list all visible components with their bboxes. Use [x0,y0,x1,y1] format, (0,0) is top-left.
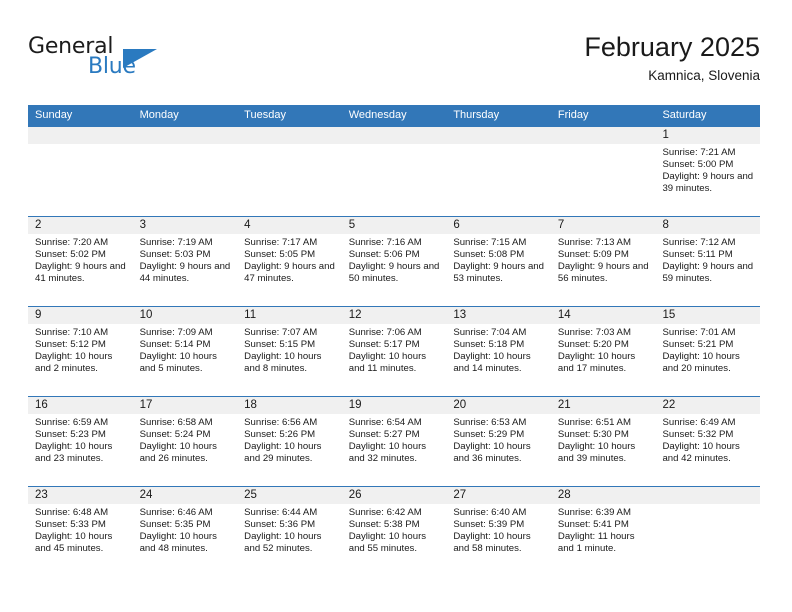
day-details: Sunrise: 6:56 AMSunset: 5:26 PMDaylight:… [237,414,342,465]
sunset-text: Sunset: 5:02 PM [35,249,128,261]
day-number: 19 [342,397,447,414]
day-details [133,144,238,147]
daylight-text: Daylight: 9 hours and 47 minutes. [244,261,337,285]
sunset-text: Sunset: 5:29 PM [453,429,546,441]
sunset-text: Sunset: 5:36 PM [244,519,337,531]
sunset-text: Sunset: 5:38 PM [349,519,442,531]
sunrise-text: Sunrise: 6:59 AM [35,417,128,429]
day-cell[interactable]: 17Sunrise: 6:58 AMSunset: 5:24 PMDayligh… [133,397,238,486]
title-block: February 2025 Kamnica, Slovenia [584,30,760,86]
daylight-text: Daylight: 11 hours and 1 minute. [558,531,651,555]
day-details: Sunrise: 7:21 AMSunset: 5:00 PMDaylight:… [655,144,760,195]
day-cell[interactable]: 11Sunrise: 7:07 AMSunset: 5:15 PMDayligh… [237,307,342,396]
day-number [237,127,342,144]
daylight-text: Daylight: 10 hours and 20 minutes. [662,351,755,375]
daylight-text: Daylight: 9 hours and 44 minutes. [140,261,233,285]
sunset-text: Sunset: 5:05 PM [244,249,337,261]
day-cell[interactable] [133,127,238,216]
calendar-week-row: 16Sunrise: 6:59 AMSunset: 5:23 PMDayligh… [28,396,760,486]
day-number: 7 [551,217,656,234]
sunrise-text: Sunrise: 7:03 AM [558,327,651,339]
daylight-text: Daylight: 9 hours and 39 minutes. [662,171,755,195]
day-number: 24 [133,487,238,504]
daylight-text: Daylight: 10 hours and 29 minutes. [244,441,337,465]
day-number: 21 [551,397,656,414]
sunset-text: Sunset: 5:24 PM [140,429,233,441]
day-number: 23 [28,487,133,504]
day-details: Sunrise: 7:20 AMSunset: 5:02 PMDaylight:… [28,234,133,285]
daylight-text: Daylight: 10 hours and 55 minutes. [349,531,442,555]
daylight-text: Daylight: 9 hours and 59 minutes. [662,261,755,285]
day-cell[interactable] [237,127,342,216]
day-details: Sunrise: 7:10 AMSunset: 5:12 PMDaylight:… [28,324,133,375]
daylight-text: Daylight: 10 hours and 11 minutes. [349,351,442,375]
day-number: 13 [446,307,551,324]
page-title: February 2025 [584,30,760,64]
day-cell[interactable]: 16Sunrise: 6:59 AMSunset: 5:23 PMDayligh… [28,397,133,486]
day-details: Sunrise: 6:54 AMSunset: 5:27 PMDaylight:… [342,414,447,465]
sunset-text: Sunset: 5:41 PM [558,519,651,531]
weekday-header-sunday: Sunday [28,105,133,126]
sunrise-text: Sunrise: 6:49 AM [662,417,755,429]
sunrise-text: Sunrise: 6:51 AM [558,417,651,429]
sunset-text: Sunset: 5:27 PM [349,429,442,441]
sunrise-text: Sunrise: 7:09 AM [140,327,233,339]
daylight-text: Daylight: 10 hours and 2 minutes. [35,351,128,375]
day-cell[interactable]: 19Sunrise: 6:54 AMSunset: 5:27 PMDayligh… [342,397,447,486]
sunset-text: Sunset: 5:11 PM [662,249,755,261]
weekday-header-monday: Monday [133,105,238,126]
day-number [446,127,551,144]
calendar-week-row: 2Sunrise: 7:20 AMSunset: 5:02 PMDaylight… [28,216,760,306]
calendar-week-row: 1Sunrise: 7:21 AMSunset: 5:00 PMDaylight… [28,126,760,216]
day-details: Sunrise: 7:03 AMSunset: 5:20 PMDaylight:… [551,324,656,375]
sunset-text: Sunset: 5:35 PM [140,519,233,531]
daylight-text: Daylight: 10 hours and 39 minutes. [558,441,651,465]
day-details [655,504,760,507]
sunset-text: Sunset: 5:18 PM [453,339,546,351]
sunrise-text: Sunrise: 6:42 AM [349,507,442,519]
weekday-header-tuesday: Tuesday [237,105,342,126]
daylight-text: Daylight: 9 hours and 50 minutes. [349,261,442,285]
weekday-header-thursday: Thursday [446,105,551,126]
day-cell[interactable]: 4Sunrise: 7:17 AMSunset: 5:05 PMDaylight… [237,217,342,306]
sunrise-text: Sunrise: 6:40 AM [453,507,546,519]
day-cell[interactable]: 13Sunrise: 7:04 AMSunset: 5:18 PMDayligh… [446,307,551,396]
day-cell[interactable] [446,127,551,216]
day-number: 2 [28,217,133,234]
sunrise-text: Sunrise: 6:54 AM [349,417,442,429]
day-number [655,487,760,504]
day-cell[interactable]: 10Sunrise: 7:09 AMSunset: 5:14 PMDayligh… [133,307,238,396]
sunrise-text: Sunrise: 7:10 AM [35,327,128,339]
day-details: Sunrise: 7:17 AMSunset: 5:05 PMDaylight:… [237,234,342,285]
daylight-text: Daylight: 10 hours and 26 minutes. [140,441,233,465]
sunrise-text: Sunrise: 7:04 AM [453,327,546,339]
day-cell[interactable]: 28Sunrise: 6:39 AMSunset: 5:41 PMDayligh… [551,487,656,576]
day-number: 27 [446,487,551,504]
sunrise-text: Sunrise: 7:13 AM [558,237,651,249]
sunrise-text: Sunrise: 6:39 AM [558,507,651,519]
day-details: Sunrise: 7:19 AMSunset: 5:03 PMDaylight:… [133,234,238,285]
day-number: 14 [551,307,656,324]
weekday-header-friday: Friday [551,105,656,126]
day-number: 28 [551,487,656,504]
day-number: 26 [342,487,447,504]
sunrise-text: Sunrise: 7:01 AM [662,327,755,339]
day-cell[interactable]: 8Sunrise: 7:12 AMSunset: 5:11 PMDaylight… [655,217,760,306]
day-cell[interactable]: 24Sunrise: 6:46 AMSunset: 5:35 PMDayligh… [133,487,238,576]
sunrise-text: Sunrise: 7:17 AM [244,237,337,249]
day-cell[interactable]: 7Sunrise: 7:13 AMSunset: 5:09 PMDaylight… [551,217,656,306]
day-cell[interactable]: 1Sunrise: 7:21 AMSunset: 5:00 PMDaylight… [655,127,760,216]
day-details: Sunrise: 6:53 AMSunset: 5:29 PMDaylight:… [446,414,551,465]
day-cell[interactable] [342,127,447,216]
sunrise-text: Sunrise: 7:21 AM [662,147,755,159]
day-details: Sunrise: 6:51 AMSunset: 5:30 PMDaylight:… [551,414,656,465]
day-number: 10 [133,307,238,324]
day-details [28,144,133,147]
day-cell[interactable]: 22Sunrise: 6:49 AMSunset: 5:32 PMDayligh… [655,397,760,486]
daylight-text: Daylight: 9 hours and 56 minutes. [558,261,651,285]
sunrise-text: Sunrise: 7:20 AM [35,237,128,249]
sunset-text: Sunset: 5:23 PM [35,429,128,441]
day-number: 16 [28,397,133,414]
sunset-text: Sunset: 5:12 PM [35,339,128,351]
sunset-text: Sunset: 5:32 PM [662,429,755,441]
day-number: 18 [237,397,342,414]
daylight-text: Daylight: 9 hours and 41 minutes. [35,261,128,285]
sunrise-text: Sunrise: 7:07 AM [244,327,337,339]
day-cell[interactable]: 12Sunrise: 7:06 AMSunset: 5:17 PMDayligh… [342,307,447,396]
day-number [28,127,133,144]
sunset-text: Sunset: 5:09 PM [558,249,651,261]
day-number [342,127,447,144]
day-cell[interactable]: 20Sunrise: 6:53 AMSunset: 5:29 PMDayligh… [446,397,551,486]
day-number: 20 [446,397,551,414]
day-details: Sunrise: 7:01 AMSunset: 5:21 PMDaylight:… [655,324,760,375]
daylight-text: Daylight: 10 hours and 42 minutes. [662,441,755,465]
day-number [551,127,656,144]
sunset-text: Sunset: 5:26 PM [244,429,337,441]
sunrise-text: Sunrise: 6:46 AM [140,507,233,519]
day-number: 4 [237,217,342,234]
daylight-text: Daylight: 9 hours and 53 minutes. [453,261,546,285]
daylight-text: Daylight: 10 hours and 58 minutes. [453,531,546,555]
sunrise-text: Sunrise: 6:48 AM [35,507,128,519]
day-details: Sunrise: 6:49 AMSunset: 5:32 PMDaylight:… [655,414,760,465]
day-number: 5 [342,217,447,234]
sunrise-text: Sunrise: 7:15 AM [453,237,546,249]
sunset-text: Sunset: 5:33 PM [35,519,128,531]
day-details: Sunrise: 7:09 AMSunset: 5:14 PMDaylight:… [133,324,238,375]
sunset-text: Sunset: 5:21 PM [662,339,755,351]
daylight-text: Daylight: 10 hours and 36 minutes. [453,441,546,465]
sunrise-text: Sunrise: 7:06 AM [349,327,442,339]
day-details: Sunrise: 7:13 AMSunset: 5:09 PMDaylight:… [551,234,656,285]
day-details: Sunrise: 6:44 AMSunset: 5:36 PMDaylight:… [237,504,342,555]
sunset-text: Sunset: 5:00 PM [662,159,755,171]
day-cell[interactable]: 27Sunrise: 6:40 AMSunset: 5:39 PMDayligh… [446,487,551,576]
sunrise-text: Sunrise: 7:19 AM [140,237,233,249]
daylight-text: Daylight: 10 hours and 48 minutes. [140,531,233,555]
page-header: General Blue February 2025 Kamnica, Slov… [28,30,760,92]
day-details: Sunrise: 7:07 AMSunset: 5:15 PMDaylight:… [237,324,342,375]
day-details: Sunrise: 7:12 AMSunset: 5:11 PMDaylight:… [655,234,760,285]
day-number: 17 [133,397,238,414]
day-details: Sunrise: 6:40 AMSunset: 5:39 PMDaylight:… [446,504,551,555]
weekday-header-wednesday: Wednesday [342,105,447,126]
day-number: 9 [28,307,133,324]
sunrise-text: Sunrise: 6:58 AM [140,417,233,429]
general-blue-logo[interactable]: General Blue [28,34,208,90]
day-number: 15 [655,307,760,324]
sunset-text: Sunset: 5:20 PM [558,339,651,351]
day-cell[interactable]: 9Sunrise: 7:10 AMSunset: 5:12 PMDaylight… [28,307,133,396]
sunrise-text: Sunrise: 7:16 AM [349,237,442,249]
day-cell[interactable]: 3Sunrise: 7:19 AMSunset: 5:03 PMDaylight… [133,217,238,306]
brand-name-blue: Blue [88,54,136,79]
day-number: 6 [446,217,551,234]
day-cell[interactable]: 6Sunrise: 7:15 AMSunset: 5:08 PMDaylight… [446,217,551,306]
sunrise-text: Sunrise: 6:44 AM [244,507,337,519]
sunset-text: Sunset: 5:03 PM [140,249,233,261]
calendar-grid: Sunday Monday Tuesday Wednesday Thursday… [28,105,760,576]
day-details: Sunrise: 6:42 AMSunset: 5:38 PMDaylight:… [342,504,447,555]
day-cell[interactable]: 18Sunrise: 6:56 AMSunset: 5:26 PMDayligh… [237,397,342,486]
day-cell[interactable] [655,487,760,576]
sunset-text: Sunset: 5:30 PM [558,429,651,441]
day-details: Sunrise: 7:04 AMSunset: 5:18 PMDaylight:… [446,324,551,375]
day-number: 25 [237,487,342,504]
weekday-header-row: Sunday Monday Tuesday Wednesday Thursday… [28,105,760,126]
day-details [446,144,551,147]
calendar-week-row: 9Sunrise: 7:10 AMSunset: 5:12 PMDaylight… [28,306,760,396]
day-details: Sunrise: 6:39 AMSunset: 5:41 PMDaylight:… [551,504,656,555]
daylight-text: Daylight: 10 hours and 32 minutes. [349,441,442,465]
weekday-header-saturday: Saturday [655,105,760,126]
day-number: 8 [655,217,760,234]
calendar-week-row: 23Sunrise: 6:48 AMSunset: 5:33 PMDayligh… [28,486,760,576]
daylight-text: Daylight: 10 hours and 23 minutes. [35,441,128,465]
day-details: Sunrise: 7:06 AMSunset: 5:17 PMDaylight:… [342,324,447,375]
day-details [551,144,656,147]
day-details [237,144,342,147]
day-number [133,127,238,144]
day-cell[interactable]: 15Sunrise: 7:01 AMSunset: 5:21 PMDayligh… [655,307,760,396]
day-cell[interactable]: 2Sunrise: 7:20 AMSunset: 5:02 PMDaylight… [28,217,133,306]
sunrise-text: Sunrise: 6:53 AM [453,417,546,429]
day-details [342,144,447,147]
sunset-text: Sunset: 5:14 PM [140,339,233,351]
day-details: Sunrise: 7:16 AMSunset: 5:06 PMDaylight:… [342,234,447,285]
day-number: 1 [655,127,760,144]
day-cell[interactable]: 21Sunrise: 6:51 AMSunset: 5:30 PMDayligh… [551,397,656,486]
day-details: Sunrise: 6:48 AMSunset: 5:33 PMDaylight:… [28,504,133,555]
day-number: 12 [342,307,447,324]
sunset-text: Sunset: 5:17 PM [349,339,442,351]
sunset-text: Sunset: 5:15 PM [244,339,337,351]
sunset-text: Sunset: 5:06 PM [349,249,442,261]
sunset-text: Sunset: 5:08 PM [453,249,546,261]
sunrise-text: Sunrise: 6:56 AM [244,417,337,429]
day-details: Sunrise: 6:59 AMSunset: 5:23 PMDaylight:… [28,414,133,465]
daylight-text: Daylight: 10 hours and 5 minutes. [140,351,233,375]
sunset-text: Sunset: 5:39 PM [453,519,546,531]
day-number: 11 [237,307,342,324]
daylight-text: Daylight: 10 hours and 17 minutes. [558,351,651,375]
day-cell[interactable]: 26Sunrise: 6:42 AMSunset: 5:38 PMDayligh… [342,487,447,576]
day-details: Sunrise: 7:15 AMSunset: 5:08 PMDaylight:… [446,234,551,285]
day-cell[interactable]: 5Sunrise: 7:16 AMSunset: 5:06 PMDaylight… [342,217,447,306]
day-cell[interactable]: 14Sunrise: 7:03 AMSunset: 5:20 PMDayligh… [551,307,656,396]
day-details: Sunrise: 6:46 AMSunset: 5:35 PMDaylight:… [133,504,238,555]
day-cell[interactable] [551,127,656,216]
daylight-text: Daylight: 10 hours and 8 minutes. [244,351,337,375]
day-details: Sunrise: 6:58 AMSunset: 5:24 PMDaylight:… [133,414,238,465]
day-cell[interactable] [28,127,133,216]
calendar-page: General Blue February 2025 Kamnica, Slov… [0,0,792,612]
day-number: 22 [655,397,760,414]
location-subtitle: Kamnica, Slovenia [584,66,760,86]
day-number: 3 [133,217,238,234]
daylight-text: Daylight: 10 hours and 45 minutes. [35,531,128,555]
day-cell[interactable]: 25Sunrise: 6:44 AMSunset: 5:36 PMDayligh… [237,487,342,576]
daylight-text: Daylight: 10 hours and 52 minutes. [244,531,337,555]
sunrise-text: Sunrise: 7:12 AM [662,237,755,249]
day-cell[interactable]: 23Sunrise: 6:48 AMSunset: 5:33 PMDayligh… [28,487,133,576]
daylight-text: Daylight: 10 hours and 14 minutes. [453,351,546,375]
